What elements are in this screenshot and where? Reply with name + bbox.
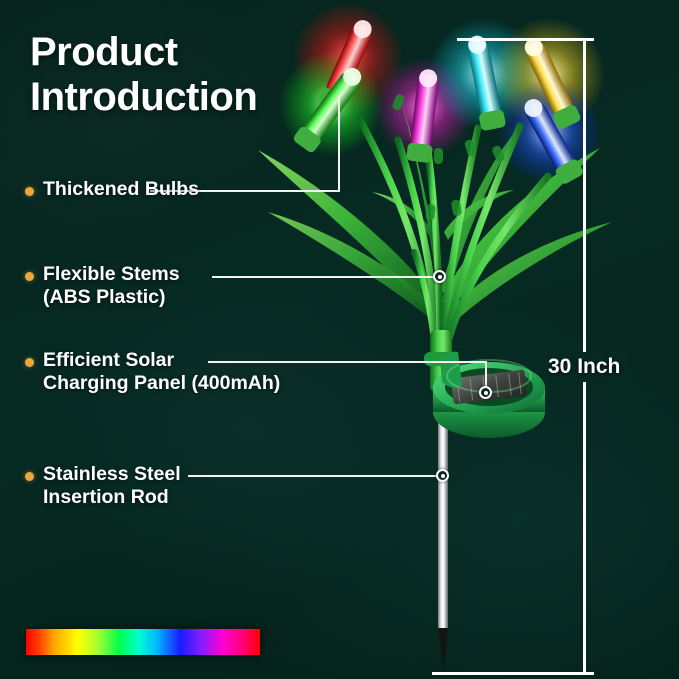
feature-label: Efficient Solar Charging Panel (400mAh) bbox=[43, 349, 280, 396]
feature-label: Thickened Bulbs bbox=[43, 178, 199, 201]
bullet-icon bbox=[25, 472, 34, 481]
dimension-top-bracket bbox=[457, 38, 594, 41]
feature-label: Stainless Steel Insertion Rod bbox=[43, 463, 181, 510]
feature-thickened-bulbs[interactable]: Thickened Bulbs bbox=[25, 178, 199, 201]
leader-line-stainless-rod bbox=[188, 475, 444, 477]
bullet-icon bbox=[25, 187, 34, 196]
infographic-canvas: 30 Inch Product Introduction Thickened B… bbox=[0, 0, 679, 679]
marker-stainless-rod bbox=[436, 469, 449, 482]
dimension-bottom-bracket bbox=[432, 672, 594, 675]
stainless-steel-rod bbox=[438, 404, 448, 670]
feature-flexible-stems[interactable]: Flexible Stems (ABS Plastic) bbox=[25, 263, 180, 310]
marker-solar-panel bbox=[479, 386, 492, 399]
marker-flexible-stems bbox=[433, 270, 446, 283]
bullet-icon bbox=[25, 358, 34, 367]
leader-line-thickened-bulbs-vertical bbox=[338, 95, 340, 192]
feature-stainless-steel-insertion-rod[interactable]: Stainless Steel Insertion Rod bbox=[25, 463, 181, 510]
feature-label: Flexible Stems (ABS Plastic) bbox=[43, 263, 180, 310]
dimension-label: 30 Inch bbox=[548, 355, 620, 379]
bullet-icon bbox=[25, 272, 34, 281]
page-title: Product Introduction bbox=[30, 30, 257, 120]
feature-efficient-solar-charging-panel[interactable]: Efficient Solar Charging Panel (400mAh) bbox=[25, 349, 280, 396]
rgb-color-gradient-bar bbox=[25, 628, 261, 656]
leader-line-flexible-stems bbox=[212, 276, 442, 278]
